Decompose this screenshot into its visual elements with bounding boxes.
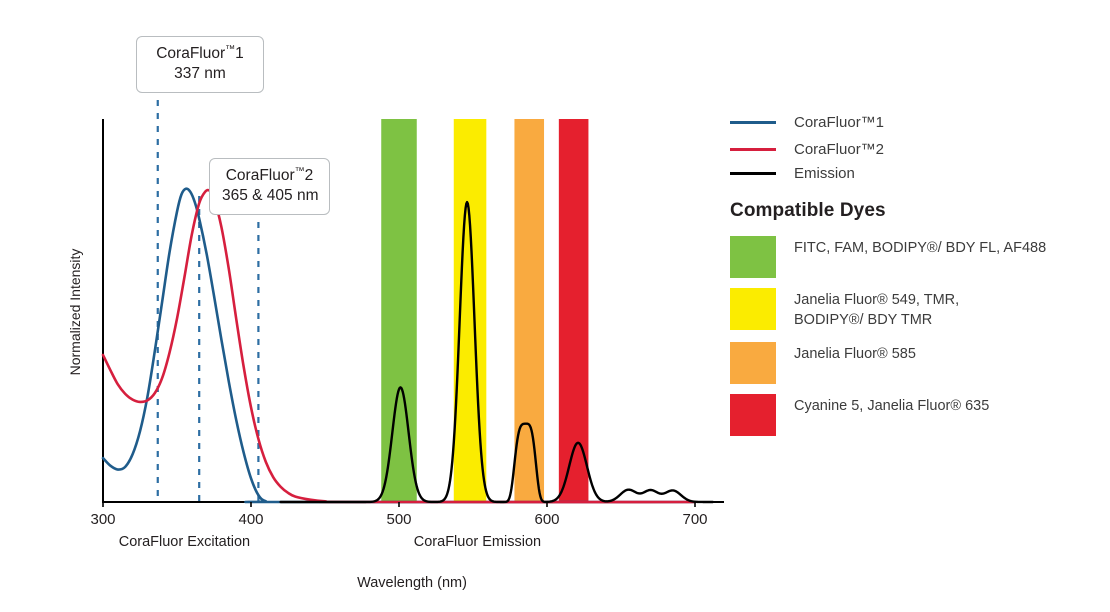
red-band — [559, 119, 589, 502]
x-axis-title: Wavelength (nm) — [357, 575, 467, 591]
dye-swatch-orange — [730, 342, 776, 384]
callout-corafluor1: CoraFluor™1 337 nm — [136, 36, 264, 93]
dye-item-yellow: Janelia Fluor® 549, TMR,BODIPY®/ BDY TMR — [730, 288, 959, 330]
dye-swatch-yellow — [730, 288, 776, 330]
legend-item-corafluor2: CoraFluor™2 — [730, 141, 884, 158]
y-axis-title: Normalized Intensity — [67, 249, 83, 376]
dye-label-orange: Janelia Fluor® 585 — [794, 342, 916, 365]
callout-corafluor2-line1: CoraFluor™2 — [222, 166, 317, 186]
green-band — [381, 119, 417, 502]
legend-line-swatch-corafluor2 — [730, 148, 776, 151]
dye-item-green: FITC, FAM, BODIPY®/ BDY FL, AF488 — [730, 236, 1046, 278]
compatible-dyes-heading: Compatible Dyes — [730, 200, 886, 222]
curve-emission — [281, 202, 713, 502]
x-tick-label-300: 300 — [90, 511, 115, 528]
dye-item-red: Cyanine 5, Janelia Fluor® 635 — [730, 394, 989, 436]
dye-label-green: FITC, FAM, BODIPY®/ BDY FL, AF488 — [794, 236, 1046, 259]
legend-item-emission: Emission — [730, 165, 855, 182]
legend-label-emission: Emission — [794, 165, 855, 182]
callout-corafluor1-line1: CoraFluor™1 — [149, 44, 251, 64]
x-tick-label-700: 700 — [682, 511, 707, 528]
callout-corafluor2: CoraFluor™2 365 & 405 nm — [209, 158, 330, 215]
dye-item-orange: Janelia Fluor® 585 — [730, 342, 916, 384]
dye-label-red: Cyanine 5, Janelia Fluor® 635 — [794, 394, 989, 417]
x-tick-label-500: 500 — [386, 511, 411, 528]
trademark-glyph: ™ — [225, 44, 235, 55]
spectra-svg: 300400500600700CoraFluor ExcitationCoraF… — [0, 0, 740, 612]
legend-label-corafluor2: CoraFluor™2 — [794, 141, 884, 158]
orange-band — [514, 119, 544, 502]
axis-sublabel-excitation: CoraFluor Excitation — [119, 534, 250, 550]
legend-panel: CoraFluor™1 CoraFluor™2 Emission Compati… — [728, 0, 1110, 612]
legend-line-swatch-emission — [730, 172, 776, 176]
emission-bands-group — [381, 119, 588, 502]
plot-area: 300400500600700CoraFluor ExcitationCoraF… — [0, 0, 740, 612]
dye-label-yellow: Janelia Fluor® 549, TMR,BODIPY®/ BDY TMR — [794, 288, 959, 330]
callout-corafluor1-line2: 337 nm — [149, 64, 251, 84]
trademark-glyph: ™ — [295, 166, 305, 177]
axis-sublabel-emission: CoraFluor Emission — [414, 534, 541, 550]
x-tick-label-400: 400 — [238, 511, 263, 528]
dye-swatch-green — [730, 236, 776, 278]
callout-corafluor2-line2: 365 & 405 nm — [222, 186, 317, 206]
legend-item-corafluor1: CoraFluor™1 — [730, 114, 884, 131]
x-tick-label-600: 600 — [534, 511, 559, 528]
dye-swatch-red — [730, 394, 776, 436]
legend-label-corafluor1: CoraFluor™1 — [794, 114, 884, 131]
chart-page: 300400500600700CoraFluor ExcitationCoraF… — [0, 0, 1110, 612]
legend-line-swatch-corafluor1 — [730, 121, 776, 124]
